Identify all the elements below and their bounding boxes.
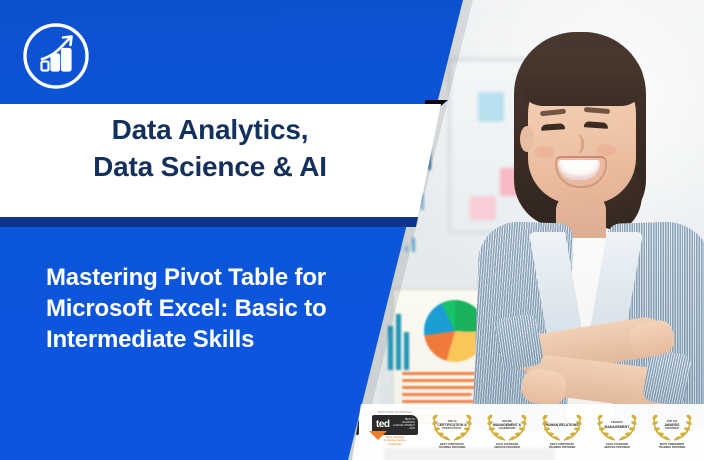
laurel-center-main: HUMAN RELATIONS <box>546 423 579 427</box>
laurel-award-badge: TOP 100 AWARDS PROVIDER MOST PREFERRED T… <box>648 409 696 455</box>
laurel-badge-caption: GOLD STANDARD SERVICE PROVIDER <box>483 443 531 450</box>
laurel-badge-caption: BEST CORPORATE TRAINING PROVIDER <box>538 443 586 450</box>
course-category-line-2: Data Science & AI <box>0 149 420 186</box>
blazer-cuff <box>494 313 544 372</box>
laurel-wreath-icon: TOP 100 AWARDS PROVIDER <box>649 409 695 442</box>
laurel-badge-center-text: FINANCE MANAGEMENT <box>603 415 631 435</box>
brand-logo[interactable] <box>21 21 91 91</box>
laurel-center-bottom: LEADERSHIP <box>499 427 516 430</box>
laurel-award-badge: HUMAN RELATIONS BEST CORPORATE TRAINING … <box>538 409 586 455</box>
laurel-wreath-icon: TOP 10 CERTIFICATION & PRODUCTIVITY <box>429 409 475 442</box>
laurel-wreath-icon: FINANCE MANAGEMENT <box>594 409 640 442</box>
ted-award-badge: SINGAPORE ACCREDITED ted BEST IN LEARNIN… <box>369 410 421 454</box>
ted-badge-arrow <box>369 431 387 440</box>
laurel-center-bottom: PRODUCTIVITY <box>442 427 461 430</box>
cheek <box>596 144 616 156</box>
hair-fringe <box>520 48 644 106</box>
cheek <box>534 146 554 158</box>
laurel-badge-center-text: TOP 10 CERTIFICATION & PRODUCTIVITY <box>438 415 466 435</box>
laurel-wreath-icon: HUMAN RELATIONS <box>539 409 585 442</box>
course-promo-card: Data Analytics, Data Science & AI Master… <box>0 0 704 460</box>
laurel-award-badge: BRAND MANAGEMENT & LEADERSHIP GOLD STAND… <box>483 409 531 455</box>
laurel-badge-caption: MOST PREFERRED TRAINING PROVIDER <box>648 443 696 450</box>
growth-bar-chart-arrow-icon <box>42 37 72 71</box>
ted-badge-side-label: BEST IN LEARNING & DEVELOPMENT 2018 <box>393 418 415 431</box>
laurel-badge-center-text: HUMAN RELATIONS <box>548 415 576 435</box>
laurel-award-badge: FINANCE MANAGEMENT GOLD STANDARD SERVICE… <box>593 409 641 455</box>
laurel-badge-center-text: BRAND MANAGEMENT & LEADERSHIP <box>493 415 521 435</box>
nose <box>569 134 584 154</box>
laurel-badge-center-text: TOP 100 AWARDS PROVIDER <box>658 415 686 435</box>
ear <box>520 126 534 152</box>
blazer-cuff <box>642 349 692 408</box>
laurel-wreath-icon: BRAND MANAGEMENT & LEADERSHIP <box>484 409 530 442</box>
course-category-heading: Data Analytics, Data Science & AI <box>0 112 420 186</box>
awards-badge-bar: SINGAPORE ACCREDITED ted BEST IN LEARNIN… <box>352 404 704 460</box>
laurel-center-bottom: PROVIDER <box>665 427 679 430</box>
instructor-photo-subject <box>470 26 704 426</box>
laurel-center-main: MANAGEMENT <box>605 425 630 429</box>
laurel-award-badge: TOP 10 CERTIFICATION & PRODUCTIVITY BEST… <box>428 409 476 455</box>
ted-badge-wordmark: ted <box>376 420 390 430</box>
laurel-badge-caption: GOLD STANDARD SERVICE PROVIDER <box>593 443 641 450</box>
laurel-badge-caption: BEST CORPORATE TRAINING PROVIDER <box>428 443 476 450</box>
course-category-line-1: Data Analytics, <box>112 114 309 145</box>
course-title: Mastering Pivot Table for Microsoft Exce… <box>46 262 376 356</box>
ted-badge-plate: ted BEST IN LEARNING & DEVELOPMENT 2018 <box>372 415 418 435</box>
